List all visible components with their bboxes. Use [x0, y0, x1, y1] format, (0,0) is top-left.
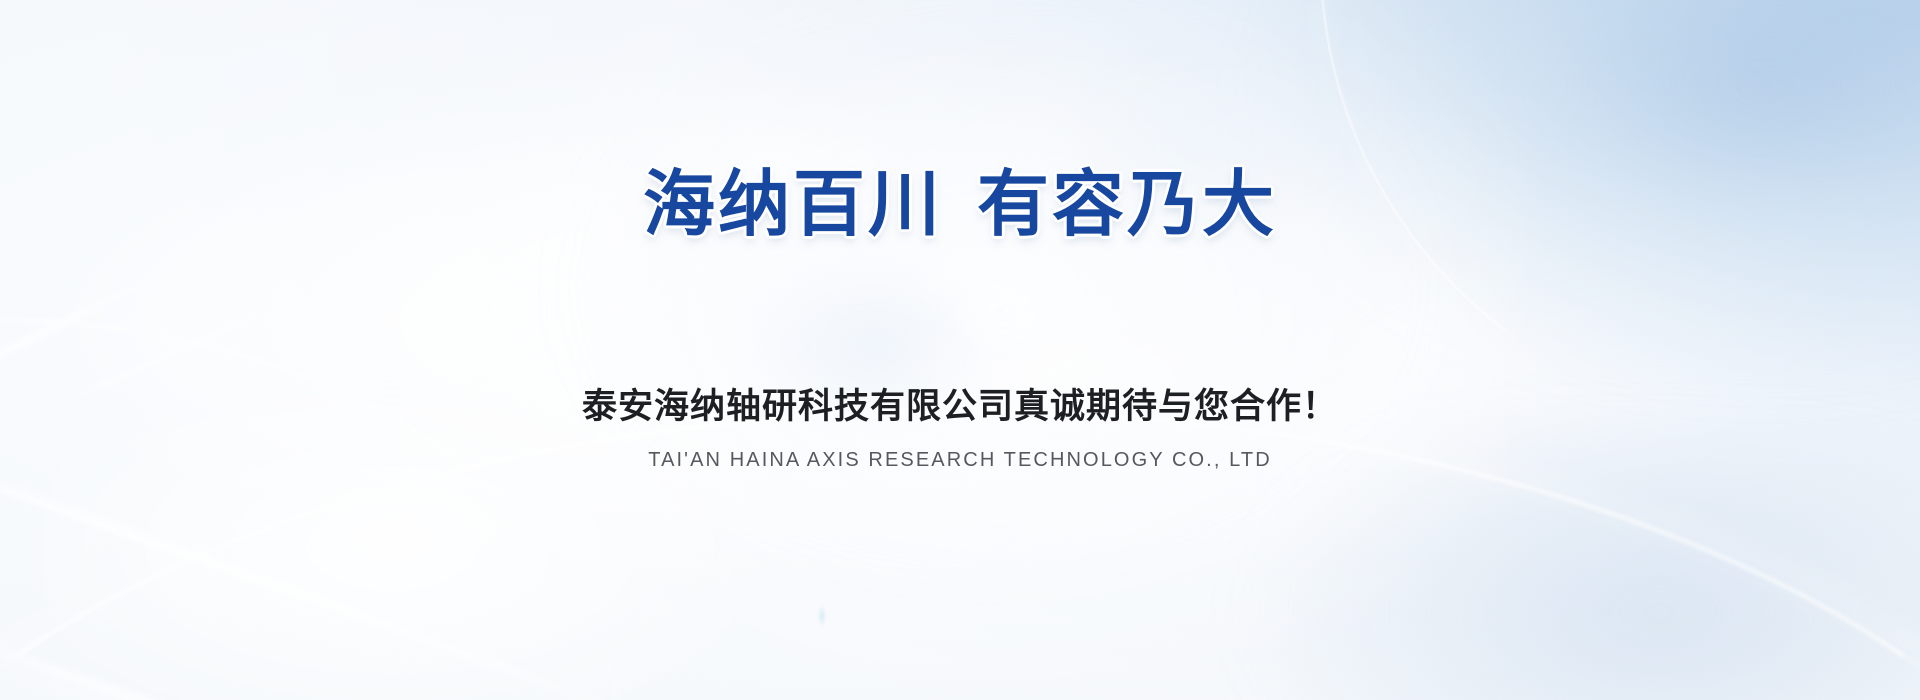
banner-subtitle-chinese: 泰安海纳轴研科技有限公司真诚期待与您合作！ — [0, 386, 1920, 427]
headline-phrase-2: 有容乃大 — [977, 165, 1277, 245]
headline-phrase-1: 海纳百川 — [643, 165, 943, 245]
hero-banner: 海纳百川有容乃大 泰安海纳轴研科技有限公司真诚期待与您合作！ TAI'AN HA… — [0, 0, 1920, 700]
banner-headline: 海纳百川有容乃大 — [0, 169, 1920, 241]
banner-subtitle-english: TAI'AN HAINA AXIS RESEARCH TECHNOLOGY CO… — [0, 448, 1920, 472]
banner-content: 海纳百川有容乃大 泰安海纳轴研科技有限公司真诚期待与您合作！ TAI'AN HA… — [0, 0, 1920, 700]
